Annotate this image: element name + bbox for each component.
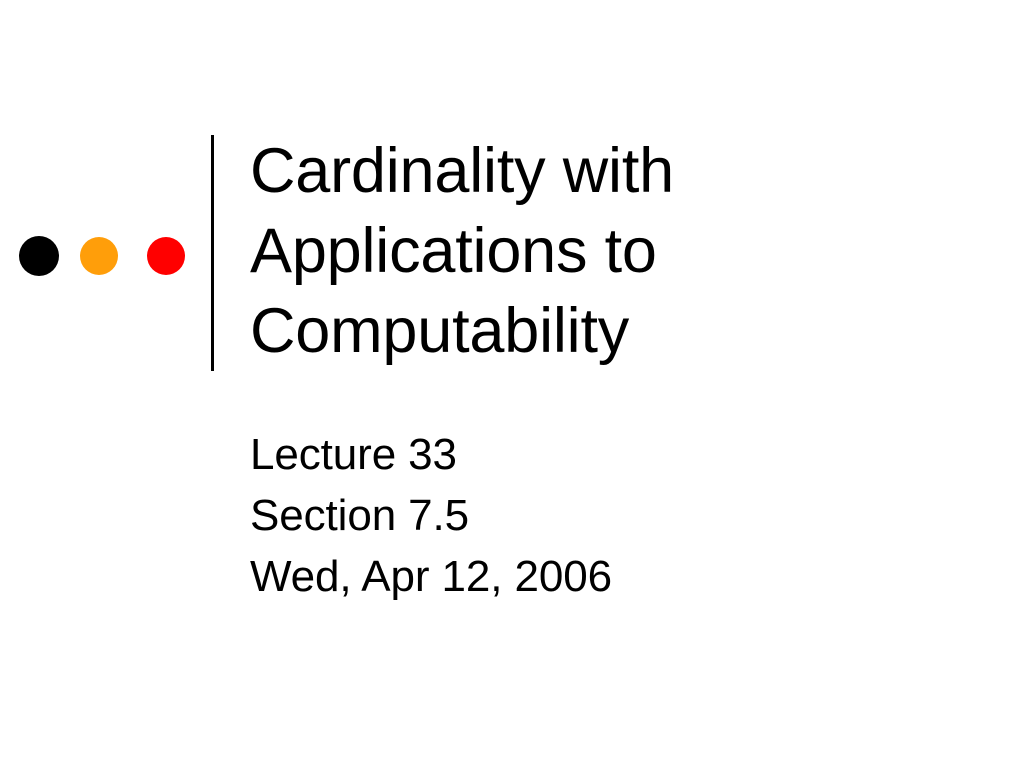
title-line-2: Applications to — [250, 211, 950, 291]
title-line-3: Computability — [250, 291, 950, 371]
red-dot-icon — [147, 237, 185, 275]
slide-title: Cardinality with Applications to Computa… — [250, 131, 950, 371]
black-dot-icon — [19, 236, 59, 276]
subtitle-section: Section 7.5 — [250, 485, 950, 546]
decorative-dot-cluster — [0, 228, 200, 284]
subtitle-date: Wed, Apr 12, 2006 — [250, 546, 950, 607]
orange-dot-icon — [80, 237, 118, 275]
vertical-divider — [211, 135, 214, 371]
title-slide: Cardinality with Applications to Computa… — [0, 0, 1024, 768]
slide-subtitle: Lecture 33 Section 7.5 Wed, Apr 12, 2006 — [250, 424, 950, 607]
title-line-1: Cardinality with — [250, 131, 950, 211]
subtitle-lecture: Lecture 33 — [250, 424, 950, 485]
